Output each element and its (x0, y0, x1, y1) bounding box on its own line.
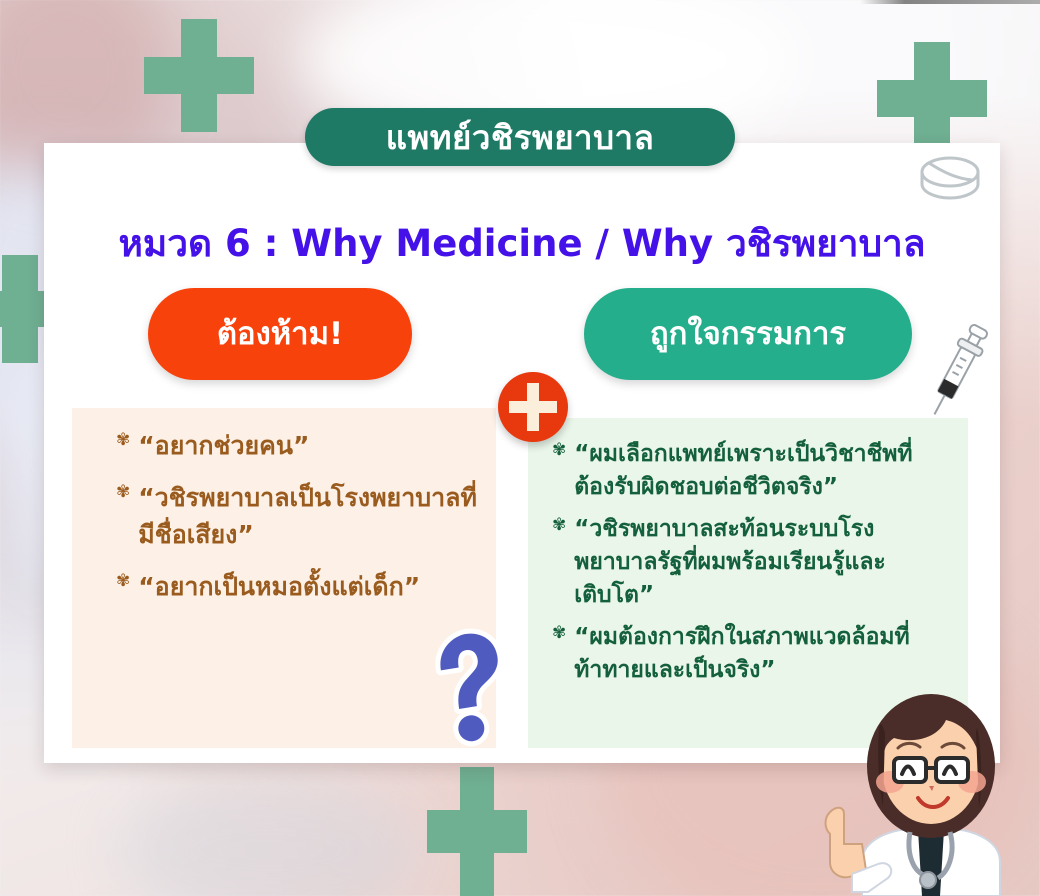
green-cross-icon (427, 767, 527, 896)
list-item-text: “วชิรพยาบาลสะท้อนระบบโรงพยาบาลรัฐที่ผมพร… (574, 513, 952, 613)
flower-bullet-icon: ✾ (116, 480, 130, 504)
list-item: ✾ “วชิรพยาบาลเป็นโรงพยาบาลที่มีชื่อเสียง… (88, 480, 480, 553)
flower-bullet-icon: ✾ (116, 428, 130, 452)
question-mark-icon (424, 628, 516, 748)
list-item: ✾ “อยากช่วยคน” (88, 428, 480, 464)
list-item-text: “อยากช่วยคน” (138, 428, 309, 464)
category-pill-forbidden[interactable]: ต้องห้าม! (148, 288, 412, 380)
header-badge-label: แพทย์วชิรพยาบาล (386, 121, 655, 154)
flower-bullet-icon: ✾ (552, 621, 566, 645)
page-title: หมวด 6 : Why Medicine / Why วชิรพยาบาล (44, 214, 1000, 273)
category-pill-forbidden-label: ต้องห้าม! (217, 319, 343, 350)
red-cross-badge-icon (498, 372, 568, 442)
green-cross-icon (877, 42, 987, 155)
list-item-text: “ผมเลือกแพทย์เพราะเป็นวิชาชีพที่ต้องรับผ… (574, 438, 952, 505)
list-item-text: “ผมต้องการฝึกในสภาพแวดล้อมที่ท้าทายและเป… (574, 621, 952, 688)
background-top-edge-line (860, 0, 1040, 4)
flower-bullet-icon: ✾ (552, 513, 566, 537)
list-item: ✾ “วชิรพยาบาลสะท้อนระบบโรงพยาบาลรัฐที่ผม… (544, 513, 952, 613)
list-item: ✾ “อยากเป็นหมอตั้งแต่เด็ก” (88, 569, 480, 605)
list-item-text: “วชิรพยาบาลเป็นโรงพยาบาลที่มีชื่อเสียง” (138, 480, 480, 553)
list-item: ✾ “ผมเลือกแพทย์เพราะเป็นวิชาชีพที่ต้องรั… (544, 438, 952, 505)
tablet-pill-icon (917, 152, 983, 208)
green-cross-icon (144, 19, 254, 132)
flower-bullet-icon: ✾ (116, 569, 130, 593)
category-pill-preferred-label: ถูกใจกรรมการ (650, 319, 846, 350)
list-item: ✾ “ผมต้องการฝึกในสภาพแวดล้อมที่ท้าทายและ… (544, 621, 952, 688)
category-pill-preferred[interactable]: ถูกใจกรรมการ (584, 288, 912, 380)
slide-canvas: แพทย์วชิรพยาบาล หมวด 6 : Why Medicine / … (0, 0, 1040, 896)
flower-bullet-icon: ✾ (552, 438, 566, 462)
list-item-text: “อยากเป็นหมอตั้งแต่เด็ก” (138, 569, 420, 605)
header-badge: แพทย์วชิรพยาบาล (305, 108, 735, 166)
syringe-icon (924, 318, 990, 426)
doctor-character (822, 694, 1040, 896)
